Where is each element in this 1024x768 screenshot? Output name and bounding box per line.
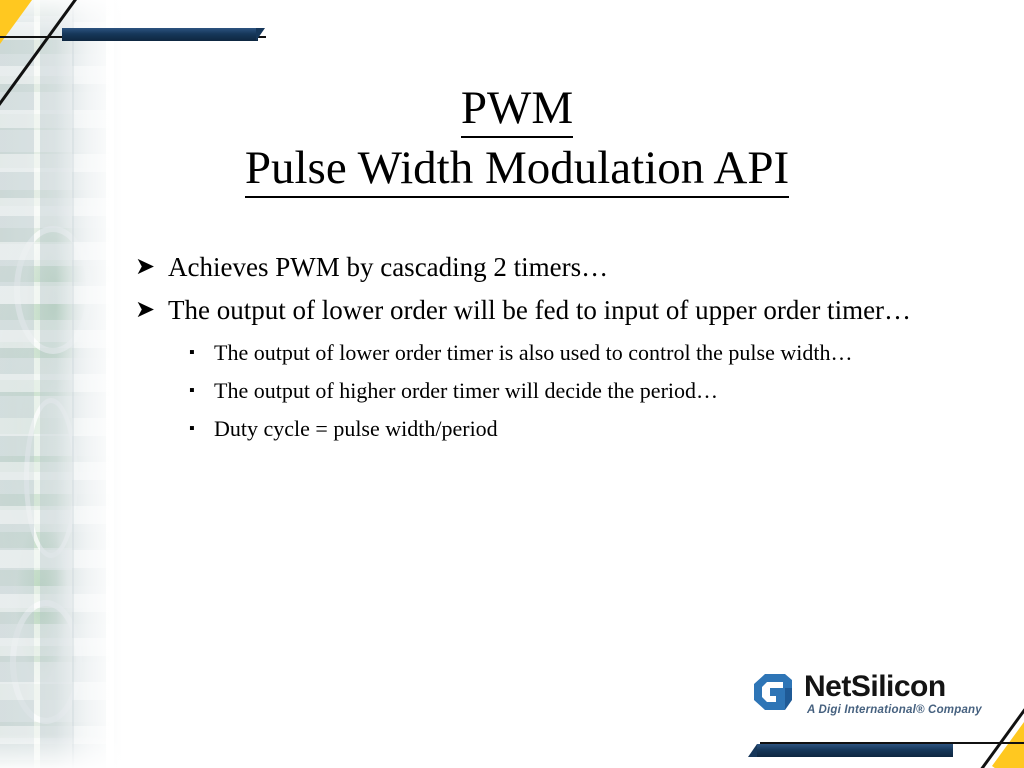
arrow-bullet-icon: ➤ [135, 294, 155, 327]
title-line-1: PWM [122, 78, 912, 138]
square-bullet-icon: ▪ [189, 338, 195, 367]
slide-title: PWM Pulse Width Modulation API [122, 78, 912, 198]
title-line-2-text: Pulse Width Modulation API [245, 142, 789, 198]
logo-name-part1: Net [804, 670, 851, 703]
sub-bullet-item: ▪ The output of higher order timer will … [188, 376, 935, 405]
bullet-text: The output of lower order will be fed to… [168, 295, 911, 325]
slide-canvas: PWM Pulse Width Modulation API ➤ Achieve… [0, 0, 1024, 768]
navy-bar-top-tip [256, 28, 265, 41]
title-line-2: Pulse Width Modulation API [122, 138, 912, 198]
bullet-text: Achieves PWM by cascading 2 timers… [168, 252, 608, 282]
bullet-item: ➤ Achieves PWM by cascading 2 timers… [135, 250, 935, 285]
sub-bullet-text: The output of higher order timer will de… [214, 378, 718, 403]
logo-name-part2: Silicon [851, 670, 946, 703]
netsilicon-wordmark: NetSilicon [804, 670, 946, 704]
square-bullet-icon: ▪ [189, 376, 195, 405]
slide-body: ➤ Achieves PWM by cascading 2 timers… ➤ … [135, 250, 935, 452]
navy-bar-bottom-tip [748, 744, 757, 757]
strip-right-fade [0, 0, 122, 768]
decorative-mosaic-strip [0, 0, 122, 768]
yellow-diagonal-stripe-bottom-right [992, 653, 1024, 768]
netsilicon-hexagon-logo-icon [752, 672, 798, 712]
logo-tagline: A Digi International® Company [807, 704, 982, 716]
arrow-bullet-icon: ➤ [135, 251, 155, 284]
sub-bullet-group: ▪ The output of lower order timer is als… [135, 338, 935, 443]
bullet-item: ➤ The output of lower order will be fed … [135, 293, 935, 328]
navy-bar-bottom [757, 744, 953, 757]
sub-bullet-item: ▪ Duty cycle = pulse width/period [188, 414, 935, 443]
title-line-1-text: PWM [461, 82, 573, 138]
netsilicon-logo: NetSilicon A Digi International® Company [752, 668, 967, 722]
sub-bullet-text: The output of lower order timer is also … [214, 340, 852, 365]
sub-bullet-text: Duty cycle = pulse width/period [214, 416, 498, 441]
square-bullet-icon: ▪ [189, 414, 195, 443]
navy-bar-top [62, 28, 258, 41]
strip-bottom-fade [0, 734, 122, 768]
sub-bullet-item: ▪ The output of lower order timer is als… [188, 338, 935, 367]
